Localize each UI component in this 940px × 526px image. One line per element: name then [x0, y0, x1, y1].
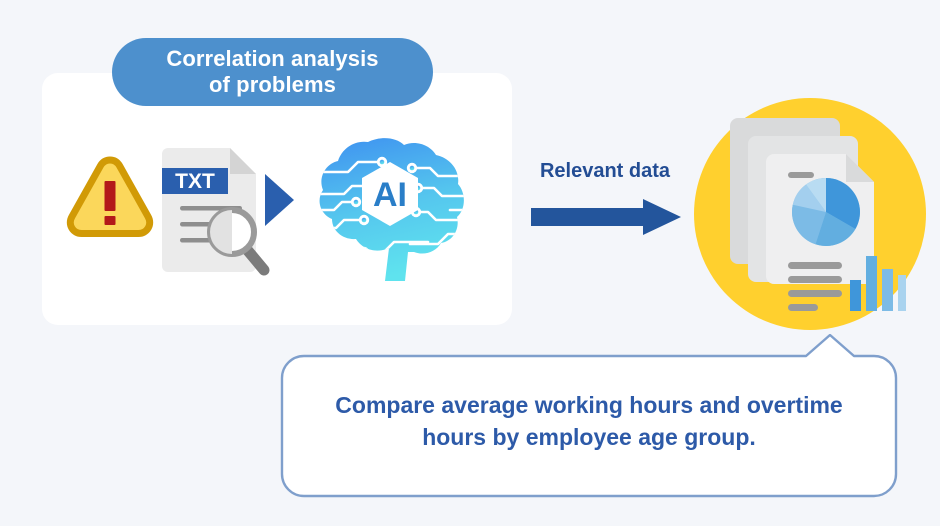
badge-label-line2: of problems [209, 72, 336, 97]
pie-chart [792, 178, 860, 246]
callout-bubble: Compare average working hours and overti… [280, 334, 898, 498]
play-triangle-icon [262, 172, 296, 228]
badge-label: Correlation analysis of problems [166, 46, 378, 98]
callout-text: Compare average working hours and overti… [280, 390, 898, 453]
txt-badge-label: TXT [175, 170, 215, 193]
ai-brain-icon: AI [310, 136, 470, 286]
warning-triangle-icon [64, 152, 156, 244]
relevant-data-label: Relevant data [520, 160, 690, 183]
documents-stack-icon [726, 114, 906, 314]
ai-label: AI [373, 176, 407, 214]
txt-document-icon: TXT [158, 142, 276, 282]
correlation-analysis-badge[interactable]: Correlation analysis of problems [112, 38, 433, 106]
relevant-data-arrow-icon [531, 196, 681, 238]
badge-label-line1: Correlation analysis [166, 46, 378, 71]
diagram-canvas: TXT [0, 0, 940, 526]
